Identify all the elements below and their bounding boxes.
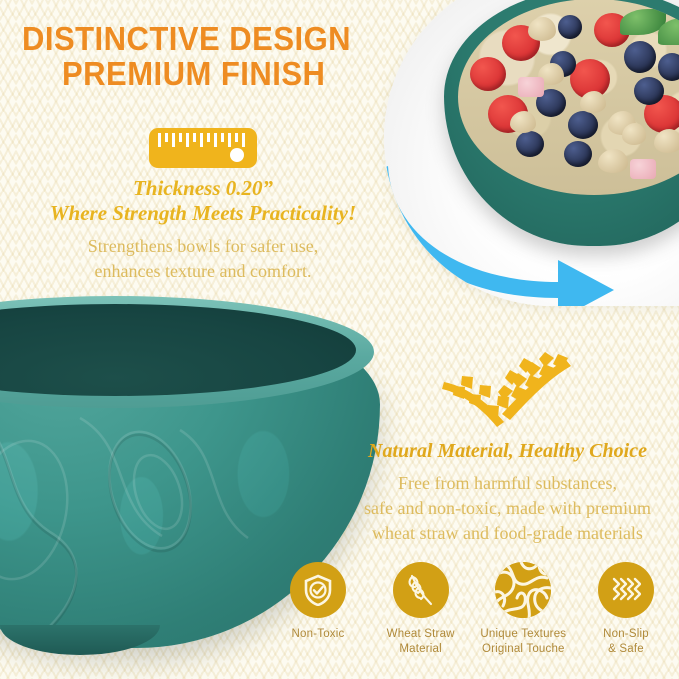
feature-label: Unique Textures Original Touche <box>477 627 569 657</box>
headline-line-1: DISTINCTIVE DESIGN <box>22 22 370 57</box>
feature-label: Non-Toxic <box>272 627 364 642</box>
wheat-icon <box>406 573 436 607</box>
feature-label: Non-Slip & Safe <box>580 627 672 657</box>
wheat-badge <box>393 562 449 618</box>
headline-line-2: PREMIUM FINISH <box>62 57 372 92</box>
feature-label-line-1: Unique Textures <box>477 627 569 642</box>
feature-wheat-straw: Wheat Straw Material <box>375 562 467 657</box>
natural-body: Free from harmful substances, safe and n… <box>340 471 675 547</box>
thickness-body: Strengthens bowls for safer use, enhance… <box>18 234 388 284</box>
natural-body-line-3: wheat straw and food-grade materials <box>340 521 675 546</box>
feature-non-toxic: Non-Toxic <box>272 562 364 657</box>
thickness-body-line-1: Strengthens bowls for safer use, <box>18 234 388 259</box>
thickness-section: Thickness 0.20” Where Strength Meets Pra… <box>18 128 388 284</box>
feature-non-slip: Non-Slip & Safe <box>580 562 672 657</box>
thickness-heading-line-2: Where Strength Meets Practicality! <box>18 201 388 226</box>
zigzag-waves-icon <box>611 576 641 604</box>
blue-curved-arrow <box>384 156 679 306</box>
feature-label-line-2: Material <box>375 642 467 657</box>
natural-heading: Natural Material, Healthy Choice <box>340 440 675 463</box>
shield-check-badge <box>290 562 346 618</box>
wheat-stalks-icon <box>440 352 576 430</box>
headline: DISTINCTIVE DESIGN PREMIUM FINISH <box>22 22 392 92</box>
feature-badges: Non-Toxic Whe <box>272 562 672 657</box>
natural-material-section: Natural Material, Healthy Choice Free fr… <box>340 352 675 547</box>
swirl-texture-badge <box>495 562 551 618</box>
feature-label-line-1: Non-Toxic <box>272 627 364 642</box>
feature-label: Wheat Straw Material <box>375 627 467 657</box>
shield-check-icon <box>303 574 333 606</box>
zigzag-waves-badge <box>598 562 654 618</box>
bowl-with-fruit-photo <box>384 0 679 306</box>
thickness-heading-line-1: Thickness 0.20” <box>18 176 388 201</box>
feature-label-line-1: Wheat Straw <box>375 627 467 642</box>
ruler-icon <box>149 128 257 168</box>
feature-unique-textures: Unique Textures Original Touche <box>477 562 569 657</box>
feature-label-line-2: & Safe <box>580 642 672 657</box>
natural-body-line-2: safe and non-toxic, made with premium <box>340 496 675 521</box>
feature-label-line-2: Original Touche <box>477 642 569 657</box>
feature-label-line-1: Non-Slip <box>580 627 672 642</box>
swirl-texture-icon <box>495 562 551 618</box>
bowl-foot <box>0 625 160 655</box>
infographic-page: DISTINCTIVE DESIGN PREMIUM FINISH <box>0 0 679 679</box>
thickness-body-line-2: enhances texture and comfort. <box>18 259 388 284</box>
natural-body-line-1: Free from harmful substances, <box>340 471 675 496</box>
